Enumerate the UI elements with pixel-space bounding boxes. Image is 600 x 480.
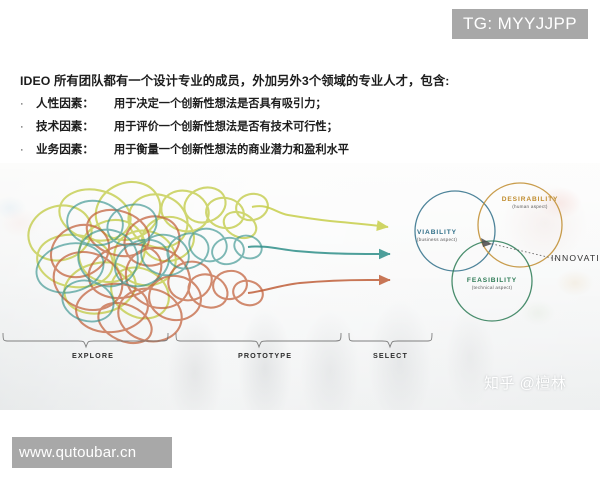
stage-label-prototype: PROTOTYPE: [238, 351, 292, 360]
bullet-marker-icon: ·: [20, 118, 36, 136]
brace-prototype: [176, 333, 341, 347]
venn-label-feasibility: FEASIBILITY (technical aspect): [456, 277, 528, 291]
bullet-marker-icon: ·: [20, 95, 36, 113]
stage-label-select: SELECT: [373, 351, 408, 360]
top-watermark-badge: TG: MYYJJPP: [452, 9, 588, 39]
venn-label-desirability-sub: (human aspect): [492, 204, 568, 210]
bullet-marker-icon: ·: [20, 141, 36, 159]
venn-label-viability-title: VIABILITY: [404, 229, 470, 237]
venn-label-feasibility-sub: (technical aspect): [456, 285, 528, 291]
venn-label-viability-sub: (business aspect): [404, 237, 470, 243]
venn-label-desirability: DESIRABILITY (human aspect): [492, 196, 568, 210]
bullet-term: 业务因素：: [36, 141, 114, 159]
bullet-description: 用于衡量一个创新性想法的商业潜力和盈利水平: [114, 141, 349, 159]
lead-paragraph: IDEO 所有团队都有一个设计专业的成员，外加另外3个领域的专业人才，包含:: [0, 72, 600, 90]
bullet-description: 用于决定一个创新性想法是否具有吸引力；: [114, 95, 327, 113]
innovation-pointer-arrow: [481, 238, 492, 247]
thread-orange-arrow: [248, 280, 390, 293]
zhihu-watermark: 知乎 @檀林: [484, 372, 566, 393]
stage-label-explore: EXPLORE: [72, 351, 114, 360]
thread-teal-arrow: [248, 246, 390, 254]
innovation-leader-line: [488, 243, 556, 259]
footer-url-text: www.qutoubar.cn: [19, 444, 136, 461]
thread-yellow-arrow: [252, 206, 388, 227]
bullet-term: 人性因素：: [36, 95, 114, 113]
bullet-item-business: · 业务因素： 用于衡量一个创新性想法的商业潜力和盈利水平: [0, 141, 600, 159]
bullet-term: 技术因素：: [36, 118, 114, 136]
bullet-item-human: · 人性因素： 用于决定一个创新性想法是否具有吸引力；: [0, 95, 600, 113]
venn-label-feasibility-title: FEASIBILITY: [456, 277, 528, 285]
footer-url-badge: www.qutoubar.cn: [12, 437, 172, 468]
brace-select: [349, 333, 432, 347]
venn-label-viability: VIABILITY (business aspect): [404, 229, 470, 243]
bullet-item-technical: · 技术因素： 用于评价一个创新性想法是否有技术可行性；: [0, 118, 600, 136]
venn-label-innovation: INNOVATION: [551, 253, 600, 263]
stage-braces: [3, 333, 432, 347]
top-watermark-text: TG: MYYJJPP: [463, 14, 577, 34]
venn-label-desirability-title: DESIRABILITY: [492, 196, 568, 204]
text-block: IDEO 所有团队都有一个设计专业的成员，外加另外3个领域的专业人才，包含: ·…: [0, 72, 600, 159]
bullet-description: 用于评价一个创新性想法是否有技术可行性；: [114, 118, 338, 136]
